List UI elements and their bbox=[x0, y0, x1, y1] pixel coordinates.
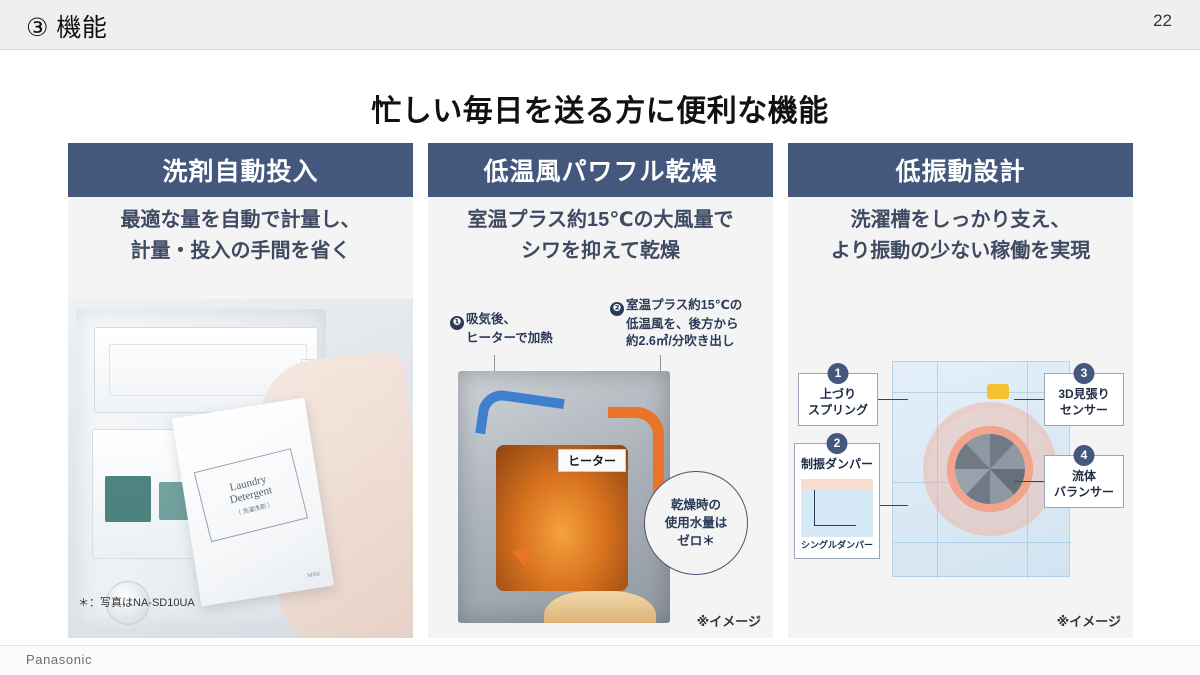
label-damper-sub: シングルダンパー bbox=[801, 540, 873, 552]
annotation-2-line-2: 低温風を、後方から bbox=[626, 317, 739, 331]
badge-2: 2 bbox=[827, 433, 848, 454]
leader-line-balancer bbox=[1014, 481, 1048, 482]
annotation-2-number: ❷ bbox=[610, 302, 624, 316]
panel-header-drying: 低温風パワフル乾燥 bbox=[428, 143, 773, 197]
top-bar-divider bbox=[0, 49, 1200, 50]
package-label: Laundry Detergent （ 洗濯洗剤 ） bbox=[194, 448, 308, 542]
slide: ③ 機能 22 忙しい毎日を送る方に便利な機能 洗剤自動投入 最適な量を自動で計… bbox=[0, 0, 1200, 675]
callout-line-2: 使用水量は bbox=[665, 516, 728, 530]
callout-line-1: 乾燥時の bbox=[671, 498, 721, 512]
heater-label: ヒーター bbox=[558, 449, 626, 472]
package-brand: MINI bbox=[307, 571, 320, 579]
label-balancer-line-2: バランサー bbox=[1054, 485, 1114, 499]
badge-1: 1 bbox=[828, 363, 849, 384]
page-number: 22 bbox=[1153, 11, 1172, 31]
desc-line-1: 最適な量を自動で計量し、 bbox=[68, 205, 413, 236]
annotation-1-number: ❶ bbox=[450, 316, 464, 330]
label-spring: 1 上づり スプリング bbox=[798, 373, 878, 426]
page-title: 忙しい毎日を送る方に便利な機能 bbox=[0, 86, 1200, 130]
footer-band bbox=[0, 646, 1200, 675]
callout-line-3: ゼロ＊ bbox=[677, 534, 715, 548]
label-balancer: 4 流体 バランサー bbox=[1044, 455, 1124, 508]
badge-4: 4 bbox=[1074, 445, 1095, 466]
label-damper: 2 制振ダンパー シングルダンパー bbox=[794, 443, 880, 559]
panel-description-vibration: 洗濯槽をしっかり支え、 より振動の少ない稼働を実現 bbox=[788, 205, 1133, 267]
desc-line-1: 室温プラス約15℃の大風量で bbox=[428, 205, 773, 236]
section-title: ③ 機能 bbox=[26, 8, 107, 44]
drum-core bbox=[955, 434, 1025, 504]
annotation-2: ❷室温プラス約15℃の 低温風を、後方から 約2.6㎥/分吹き出し bbox=[610, 297, 770, 350]
detergent-tank bbox=[105, 476, 151, 522]
annotation-1: ❶吸気後、 ヒーターで加熱 bbox=[450, 311, 553, 347]
zero-water-callout: 乾燥時の 使用水量は ゼロ＊ bbox=[644, 471, 748, 575]
desc-line-2: より振動の少ない稼働を実現 bbox=[788, 236, 1133, 267]
vibration-diagram: 1 上づり スプリング 2 制振ダンパー シングルダンパー 3 3D見張り セン… bbox=[788, 295, 1133, 638]
feature-panel-detergent: 洗剤自動投入 最適な量を自動で計量し、 計量・投入の手間を省く Lau bbox=[68, 143, 413, 638]
panel-header-detergent: 洗剤自動投入 bbox=[68, 143, 413, 197]
leader-line-spring bbox=[874, 399, 908, 400]
brand-logo: Panasonic bbox=[26, 652, 92, 667]
panel-description-detergent: 最適な量を自動で計量し、 計量・投入の手間を省く bbox=[68, 205, 413, 267]
spring-mount bbox=[987, 384, 1009, 399]
top-bar bbox=[0, 0, 1200, 49]
panel-header-vibration: 低振動設計 bbox=[788, 143, 1133, 197]
desc-line-2: シワを抑えて乾燥 bbox=[428, 236, 773, 267]
label-sensor: 3 3D見張り センサー bbox=[1044, 373, 1124, 426]
laundry-load bbox=[544, 591, 656, 623]
drying-diagram: ❶吸気後、 ヒーターで加熱 ❷室温プラス約15℃の 低温風を、後方から 約2.6… bbox=[428, 295, 773, 638]
leader-line-sensor bbox=[1014, 399, 1048, 400]
image-note-vibration: ※イメージ bbox=[1057, 611, 1121, 630]
feature-panel-vibration: 低振動設計 洗濯槽をしっかり支え、 より振動の少ない稼働を実現 bbox=[788, 143, 1133, 638]
photo-footnote-detergent: ＊：写真はNA-SD10UA bbox=[78, 594, 195, 610]
desc-line-2: 計量・投入の手間を省く bbox=[68, 236, 413, 267]
drum-cutaway-image: ヒーター bbox=[458, 371, 670, 623]
label-sensor-line-1: 3D見張り bbox=[1058, 387, 1109, 401]
label-spring-line-1: 上づり bbox=[820, 387, 856, 401]
badge-3: 3 bbox=[1074, 363, 1095, 384]
label-spring-line-2: スプリング bbox=[808, 403, 868, 417]
desc-line-1: 洗濯槽をしっかり支え、 bbox=[788, 205, 1133, 236]
label-balancer-line-1: 流体 bbox=[1072, 469, 1096, 483]
image-note-drying: ※イメージ bbox=[697, 611, 761, 630]
washing-machine-photo: Laundry Detergent （ 洗濯洗剤 ） MINI ＊：写真はNA-… bbox=[68, 299, 413, 638]
damper-thumbnail bbox=[801, 479, 873, 537]
panel-description-drying: 室温プラス約15℃の大風量で シワを抑えて乾燥 bbox=[428, 205, 773, 267]
label-damper-line-1: 制振ダンパー bbox=[801, 457, 873, 471]
annotation-1-line-1: 吸気後、 bbox=[466, 312, 516, 326]
intake-air-arrow bbox=[475, 387, 565, 444]
annotation-2-line-1: 室温プラス約15℃の bbox=[626, 298, 742, 312]
annotation-2-line-3: 約2.6㎥/分吹き出し bbox=[626, 334, 734, 348]
annotation-1-line-2: ヒーターで加熱 bbox=[466, 331, 553, 345]
label-sensor-line-2: センサー bbox=[1060, 403, 1108, 417]
feature-panel-drying: 低温風パワフル乾燥 室温プラス約15℃の大風量で シワを抑えて乾燥 ❶吸気後、 … bbox=[428, 143, 773, 638]
